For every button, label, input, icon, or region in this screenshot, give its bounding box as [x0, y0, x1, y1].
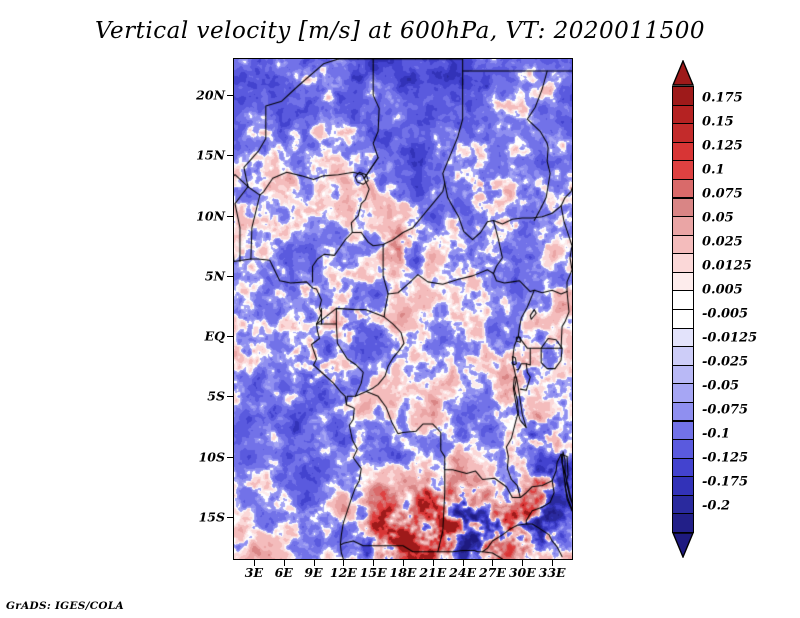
- x-axis-tick-mark: [552, 560, 553, 566]
- x-axis-tick-label: 33E: [539, 565, 566, 580]
- colorbar-swatch: [672, 458, 694, 478]
- colorbar-tick-label: 0.1: [702, 162, 725, 177]
- colorbar-swatch: [672, 383, 694, 403]
- colorbar-tick-label: 0.0125: [702, 258, 752, 273]
- colorbar-tick-label: -0.05: [702, 378, 739, 393]
- colorbar-swatch: [672, 198, 694, 218]
- colorbar-tick-label: 0.15: [702, 114, 734, 129]
- colorbar-swatch: [672, 105, 694, 125]
- colorbar-tick-label: -0.175: [702, 474, 748, 489]
- x-axis-tick-mark: [284, 560, 285, 566]
- colorbar-swatch: [672, 495, 694, 515]
- colorbar-swatch: [672, 402, 694, 422]
- colorbar-tick-label: 0.125: [702, 138, 743, 153]
- y-axis-tick-label: EQ: [179, 329, 225, 344]
- x-axis-tick-mark: [522, 560, 523, 566]
- colorbar-swatch: [672, 309, 694, 329]
- y-axis-tick-mark: [227, 396, 233, 397]
- x-axis-tick-mark: [433, 560, 434, 566]
- y-axis-tick-label: 10S: [179, 449, 225, 464]
- x-axis-tick-label: 27E: [479, 565, 506, 580]
- colorbar-swatch: [672, 476, 694, 496]
- y-axis-tick-mark: [227, 276, 233, 277]
- colorbar-swatch: [672, 142, 694, 162]
- colorbar-top-arrow-icon: [672, 60, 694, 86]
- x-axis-tick-label: 12E: [330, 565, 357, 580]
- y-axis-tick-mark: [227, 336, 233, 337]
- colorbar-swatch: [672, 86, 694, 106]
- y-axis-tick-label: 15S: [179, 509, 225, 524]
- y-axis-tick-label: 15N: [179, 148, 225, 163]
- colorbar-swatch: [672, 235, 694, 255]
- x-axis-tick-label: 18E: [390, 565, 417, 580]
- colorbar-tick-label: -0.1: [702, 426, 730, 441]
- y-axis-tick-label: 20N: [179, 88, 225, 103]
- x-axis-tick-mark: [343, 560, 344, 566]
- colorbar-swatch: [672, 346, 694, 366]
- x-axis-tick-mark: [492, 560, 493, 566]
- colorbar-tick-label: 0.075: [702, 186, 743, 201]
- colorbar-swatch: [672, 439, 694, 459]
- colorbar: [672, 86, 694, 532]
- colorbar-tick-label: -0.025: [702, 354, 748, 369]
- colorbar-swatch: [672, 123, 694, 143]
- x-axis-tick-label: 24E: [449, 565, 476, 580]
- colorbar-swatch: [672, 513, 694, 533]
- y-axis-tick-mark: [227, 95, 233, 96]
- colorbar-tick-label: 0.175: [702, 90, 743, 105]
- colorbar-tick-label: 0.025: [702, 234, 743, 249]
- colorbar-bottom-arrow-icon: [672, 532, 694, 558]
- x-axis-tick-mark: [403, 560, 404, 566]
- x-axis-tick-label: 30E: [509, 565, 536, 580]
- y-axis-tick-mark: [227, 155, 233, 156]
- y-axis-tick-mark: [227, 216, 233, 217]
- colorbar-tick-label: -0.075: [702, 402, 748, 417]
- x-axis-tick-label: 6E: [275, 565, 293, 580]
- colorbar-tick-label: -0.005: [702, 306, 748, 321]
- y-axis-tick-label: 5S: [179, 389, 225, 404]
- grads-plot-page: Vertical velocity [m/s] at 600hPa, VT: 2…: [0, 0, 800, 618]
- x-axis-tick-label: 15E: [360, 565, 387, 580]
- colorbar-tick-label: 0.005: [702, 282, 743, 297]
- x-axis-tick-mark: [254, 560, 255, 566]
- y-axis-tick-label: 5N: [179, 268, 225, 283]
- colorbar-tick-label: -0.0125: [702, 330, 757, 345]
- colorbar-tick-label: -0.125: [702, 450, 748, 465]
- colorbar-swatch: [672, 179, 694, 199]
- colorbar-swatch: [672, 290, 694, 310]
- colorbar-swatch: [672, 216, 694, 236]
- x-axis-tick-mark: [373, 560, 374, 566]
- grads-attribution: GrADS: IGES/COLA: [6, 600, 124, 612]
- y-axis-tick-mark: [227, 517, 233, 518]
- colorbar-swatch: [672, 253, 694, 273]
- y-axis-tick-mark: [227, 457, 233, 458]
- colorbar-swatch: [672, 421, 694, 441]
- x-axis-tick-label: 21E: [419, 565, 446, 580]
- x-axis-tick-mark: [463, 560, 464, 566]
- colorbar-tick-label: 0.05: [702, 210, 734, 225]
- x-axis-tick-label: 9E: [304, 565, 322, 580]
- colorbar-tick-label: -0.2: [702, 498, 730, 513]
- colorbar-swatch: [672, 328, 694, 348]
- colorbar-swatch: [672, 160, 694, 180]
- colorbar-swatch: [672, 272, 694, 292]
- y-axis-tick-label: 10N: [179, 208, 225, 223]
- x-axis-tick-label: 3E: [245, 565, 263, 580]
- colorbar-swatch: [672, 365, 694, 385]
- x-axis-tick-mark: [314, 560, 315, 566]
